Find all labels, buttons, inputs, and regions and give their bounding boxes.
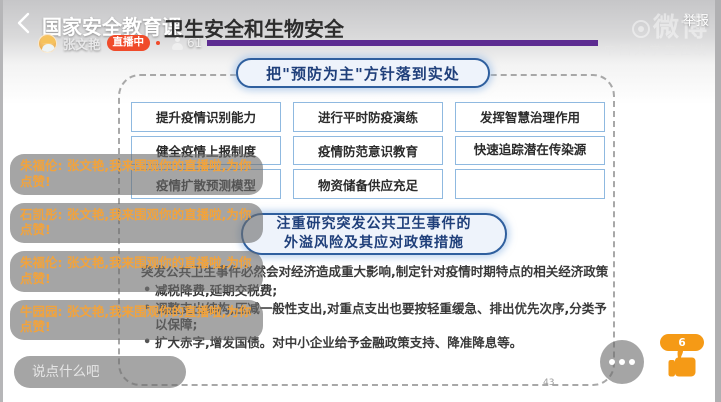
status-badge: 直播中 bbox=[107, 35, 151, 50]
ellipsis-icon bbox=[629, 359, 635, 365]
slide-box: 提升疫情识别能力 bbox=[131, 102, 281, 132]
chat-nickname: 牛园园: bbox=[20, 304, 63, 319]
slide-box: 快速追踪潜在传染源 bbox=[455, 136, 605, 166]
like-button[interactable]: 6 bbox=[657, 334, 707, 386]
thumbs-up-icon bbox=[667, 344, 699, 380]
chat-nickname: 朱福伦: bbox=[20, 158, 63, 173]
bottom-action-bar: 6 bbox=[0, 340, 721, 402]
avatar[interactable] bbox=[38, 34, 57, 53]
ellipsis-icon bbox=[619, 359, 625, 365]
ellipsis-icon bbox=[609, 359, 615, 365]
chat-message: 石凯彤: 张文艳,我来围观你的直播啦,为你点赞! bbox=[10, 203, 263, 244]
chat-nickname: 朱福伦: bbox=[20, 255, 63, 270]
report-button[interactable]: 举报 bbox=[683, 10, 709, 29]
chat-message-list[interactable]: 朱福伦: 张文艳,我来围观你的直播啦,为你点赞! 石凯彤: 张文艳,我来围观你的… bbox=[10, 154, 263, 340]
viewer-count-group: 61 bbox=[172, 36, 202, 50]
host-meta-row: 张文艳 直播中 61 bbox=[38, 33, 202, 53]
chat-input[interactable] bbox=[14, 356, 186, 388]
player-header: 国家安全教育课 卫生安全和生物安全 张文艳 直播中 61 举报 bbox=[0, 0, 721, 58]
more-options-button[interactable] bbox=[600, 340, 644, 384]
separator-dot bbox=[156, 41, 160, 45]
slide-box: 物资储备供应充足 bbox=[293, 169, 443, 199]
slide-box: 疫情防范意识教育 bbox=[293, 136, 443, 166]
slide-heading-research: 注重研究突发公共卫生事件的 外溢风险及其应对政策措施 bbox=[241, 213, 507, 255]
chat-message: 朱福伦: 张文艳,我来围观你的直播啦,为你点赞! bbox=[10, 154, 263, 195]
slide-heading-prevention: 把"预防为主"方针落到实处 bbox=[236, 58, 490, 88]
slide-heading-research-line2: 外溢风险及其应对政策措施 bbox=[284, 234, 464, 253]
viewer-count: 61 bbox=[187, 36, 202, 50]
chat-message: 牛园园: 张文艳,我来围观你的直播啦,为你点赞! bbox=[10, 300, 263, 341]
slide-heading-research-line1: 注重研究突发公共卫生事件的 bbox=[277, 215, 472, 234]
slide-box-empty bbox=[455, 169, 605, 199]
back-icon[interactable] bbox=[14, 12, 32, 34]
slide-box: 进行平时防疫演练 bbox=[293, 102, 443, 132]
chat-message: 朱福伦: 张文艳,我来围观你的直播啦,为你点赞! bbox=[10, 251, 263, 292]
live-stream-player: 微博 中国大学生在线 把"预防为主"方针落到实处 提升疫情识别能力 进行平时防疫… bbox=[0, 0, 721, 402]
slide-box: 发挥智慧治理作用 bbox=[455, 102, 605, 132]
person-icon bbox=[172, 37, 183, 50]
host-name: 张文艳 bbox=[63, 34, 101, 53]
chat-nickname: 石凯彤: bbox=[20, 207, 63, 222]
